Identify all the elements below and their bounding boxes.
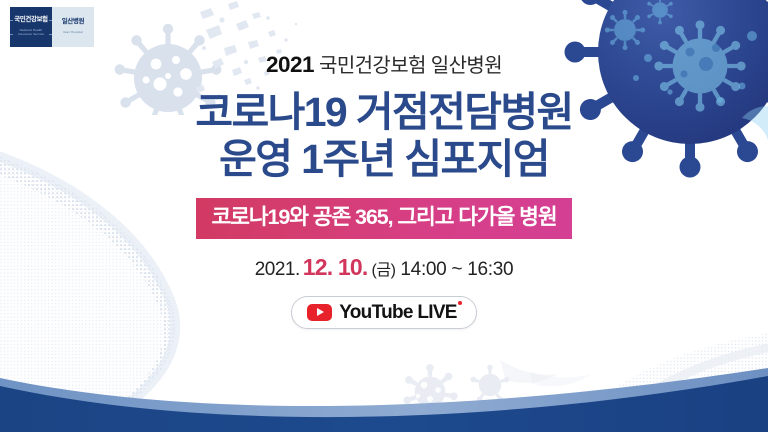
event-time-range: 14:00 ~ 16:30 [400,260,513,279]
logo-notch [10,20,13,21]
kicker-year: 2021 [266,52,314,77]
symposium-poster: 국민건강보험 National Health Insurance Service… [0,0,768,432]
date-month-day: 12. 10. [303,256,368,279]
logo-ilsan-english: Ilsan Hospital [63,31,83,35]
logo-nhis-english: National Health Insurance Service [18,29,44,37]
logo-nhis: 국민건강보험 National Health Insurance Service [10,7,52,47]
kicker-line: 2021 국민건강보험 일산병원 [266,54,502,77]
page-title: 코로나19 거점전담병원 운영 1주년 심포지엄 [195,90,572,184]
date-day-of-week: (금) [372,263,396,279]
logo-ilsan-korean: 일산병원 [62,19,84,25]
youtube-play-icon [307,304,332,322]
logo-notch [10,34,13,35]
date-year: 2021. [255,260,300,279]
logo-ilsan: 일산병원 Ilsan Hospital [52,7,94,47]
subtitle-banner: 코로나19와 공존 365, 그리고 다가올 병원 [196,198,571,239]
logo-nhis-korean: 국민건강보험 [14,17,47,23]
youtube-live-text: YouTube LIVE [339,302,457,323]
event-datetime: 2021. 12. 10. (금) 14:00 ~ 16:30 [255,256,514,279]
kicker-org: 국민건강보험 일산병원 [319,55,502,77]
poster-content: 2021 국민건강보험 일산병원 코로나19 거점전담병원 운영 1주년 심포지… [0,0,768,432]
youtube-live-label: YouTube LIVE [339,303,457,322]
title-line-1: 코로나19 거점전담병원 [195,89,572,135]
live-indicator-dot [458,301,462,305]
youtube-live-button[interactable]: YouTube LIVE [291,296,477,329]
title-line-2: 운영 1주년 심포지엄 [195,137,572,183]
hospital-logo: 국민건강보험 National Health Insurance Service… [10,7,94,47]
